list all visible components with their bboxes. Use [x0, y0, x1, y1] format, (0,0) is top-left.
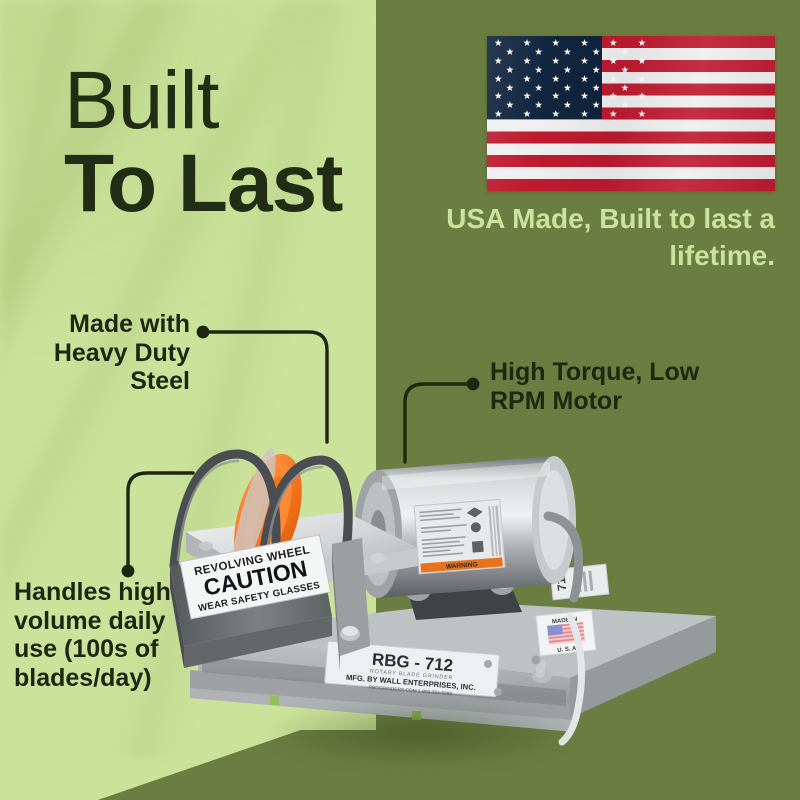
- page-title: Built To Last: [64, 62, 342, 223]
- made-in-usa-sticker: MADE IN U. S. A.: [536, 610, 596, 656]
- headline-line-1: Built: [64, 62, 342, 141]
- callout-heavy-duty-steel: Made with Heavy Duty Steel: [30, 310, 190, 396]
- callout-high-torque-motor: High Torque, Low RPM Motor: [490, 358, 750, 415]
- product-image-rbg-712-grinder: RBG - 712 ROTARY BLADE GRINDER MFG. BY W…: [150, 420, 800, 750]
- motor-spec-label: WARNING: [414, 499, 505, 573]
- flag-stars: ★ ★ ★ ★ ★ ★ ★ ★ ★ ★ ★ ★ ★ ★ ★ ★ ★ ★ ★ ★ …: [487, 36, 775, 191]
- headline-line-2: To Last: [64, 145, 342, 224]
- usa-flag-icon: ★ ★ ★ ★ ★ ★ ★ ★ ★ ★ ★ ★ ★ ★ ★ ★ ★ ★ ★ ★ …: [487, 36, 775, 191]
- product-drop-shadow: [210, 688, 630, 778]
- usa-tagline: USA Made, Built to last a lifetime.: [400, 200, 775, 274]
- infographic-poster: Built To Last ★ ★ ★ ★ ★ ★ ★ ★ ★ ★ ★ ★ ★ …: [0, 0, 800, 800]
